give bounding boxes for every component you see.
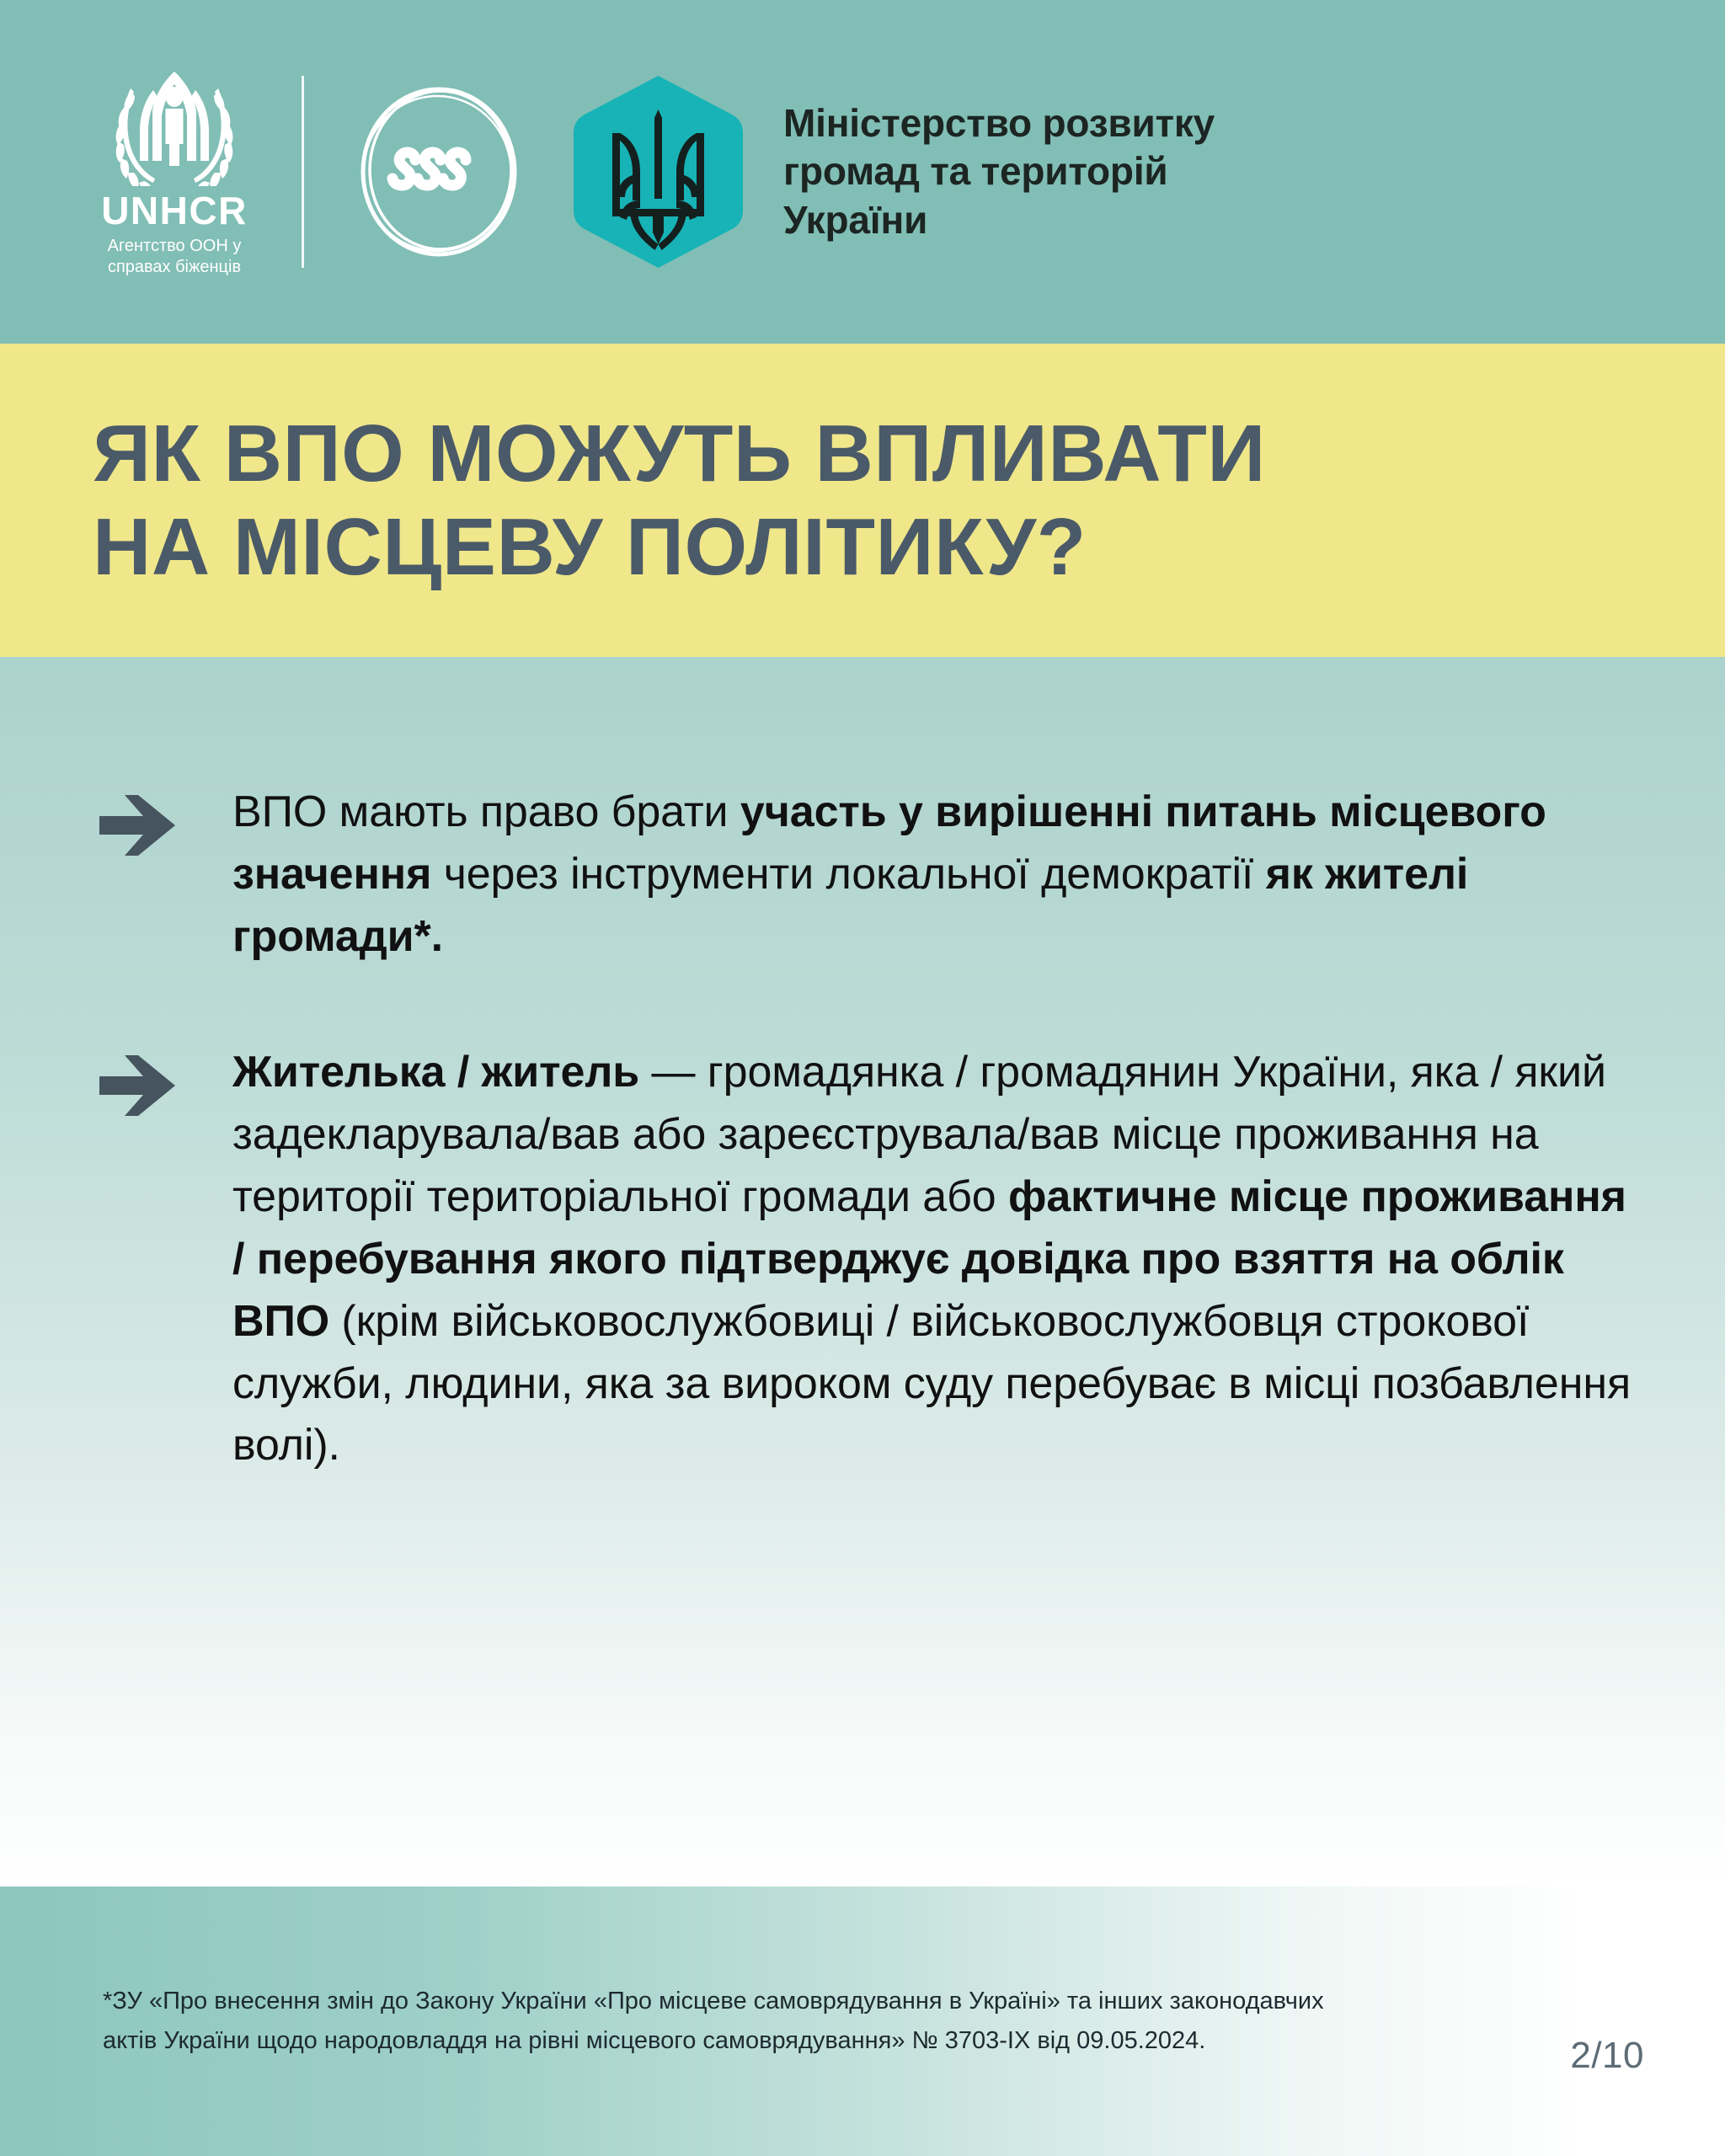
bullet-plain: через інструменти локальної демократії [431,850,1265,899]
title-band: ЯК ВПО МОЖУТЬ ВПЛИВАТИ НА МІСЦЕВУ ПОЛІТИ… [0,344,1725,657]
bullet-text-2: Жителька / житель — громадянка / громадя… [232,1042,1641,1477]
footnote: *ЗУ «Про внесення змін до Закону України… [103,1982,1383,2061]
unhcr-name: UNHCR [101,191,248,230]
arrow-right-icon [99,1052,177,1119]
unhcr-logo: UNHCR Агентство ООН у справах біженців [86,67,263,277]
bullet-plain: (крім військовослужбовиці / військовослу… [232,1297,1631,1470]
ministry-logo-block: Міністерство розвитку громад та територі… [572,74,1215,269]
bullet-emphasis: Жителька / житель [232,1048,639,1097]
page-title: ЯК ВПО МОЖУТЬ ВПЛИВАТИ НА МІСЦЕВУ ПОЛІТИ… [93,407,1266,595]
page-header: UNHCR Агентство ООН у справах біженців [0,0,1725,344]
unhcr-subtitle: Агентство ООН у справах біженців [86,236,263,277]
header-divider [302,76,304,268]
ukraine-trident-hexagon-icon [572,74,745,269]
list-item: Жителька / житель — громадянка / громадя… [99,1042,1641,1477]
bullet-text-1: ВПО мають право брати участь у вирішенні… [232,782,1641,968]
unhcr-emblem-icon [94,67,254,186]
content-area: ВПО мають право брати участь у вирішенні… [0,657,1725,1886]
bullet-plain: ВПО мають право брати [232,787,740,836]
arrow-right-icon [99,792,177,859]
bullet-list: ВПО мають право брати участь у вирішенні… [99,782,1641,1477]
infographic-page: UNHCR Агентство ООН у справах біженців [0,0,1725,2156]
page-number: 2/10 [1570,2035,1644,2077]
page-footer: *ЗУ «Про внесення змін до Закону України… [0,1886,1725,2156]
ministry-name: Міністерство розвитку громад та територі… [783,99,1215,243]
sss-circle-logo-icon [350,83,528,261]
list-item: ВПО мають право брати участь у вирішенні… [99,782,1641,968]
